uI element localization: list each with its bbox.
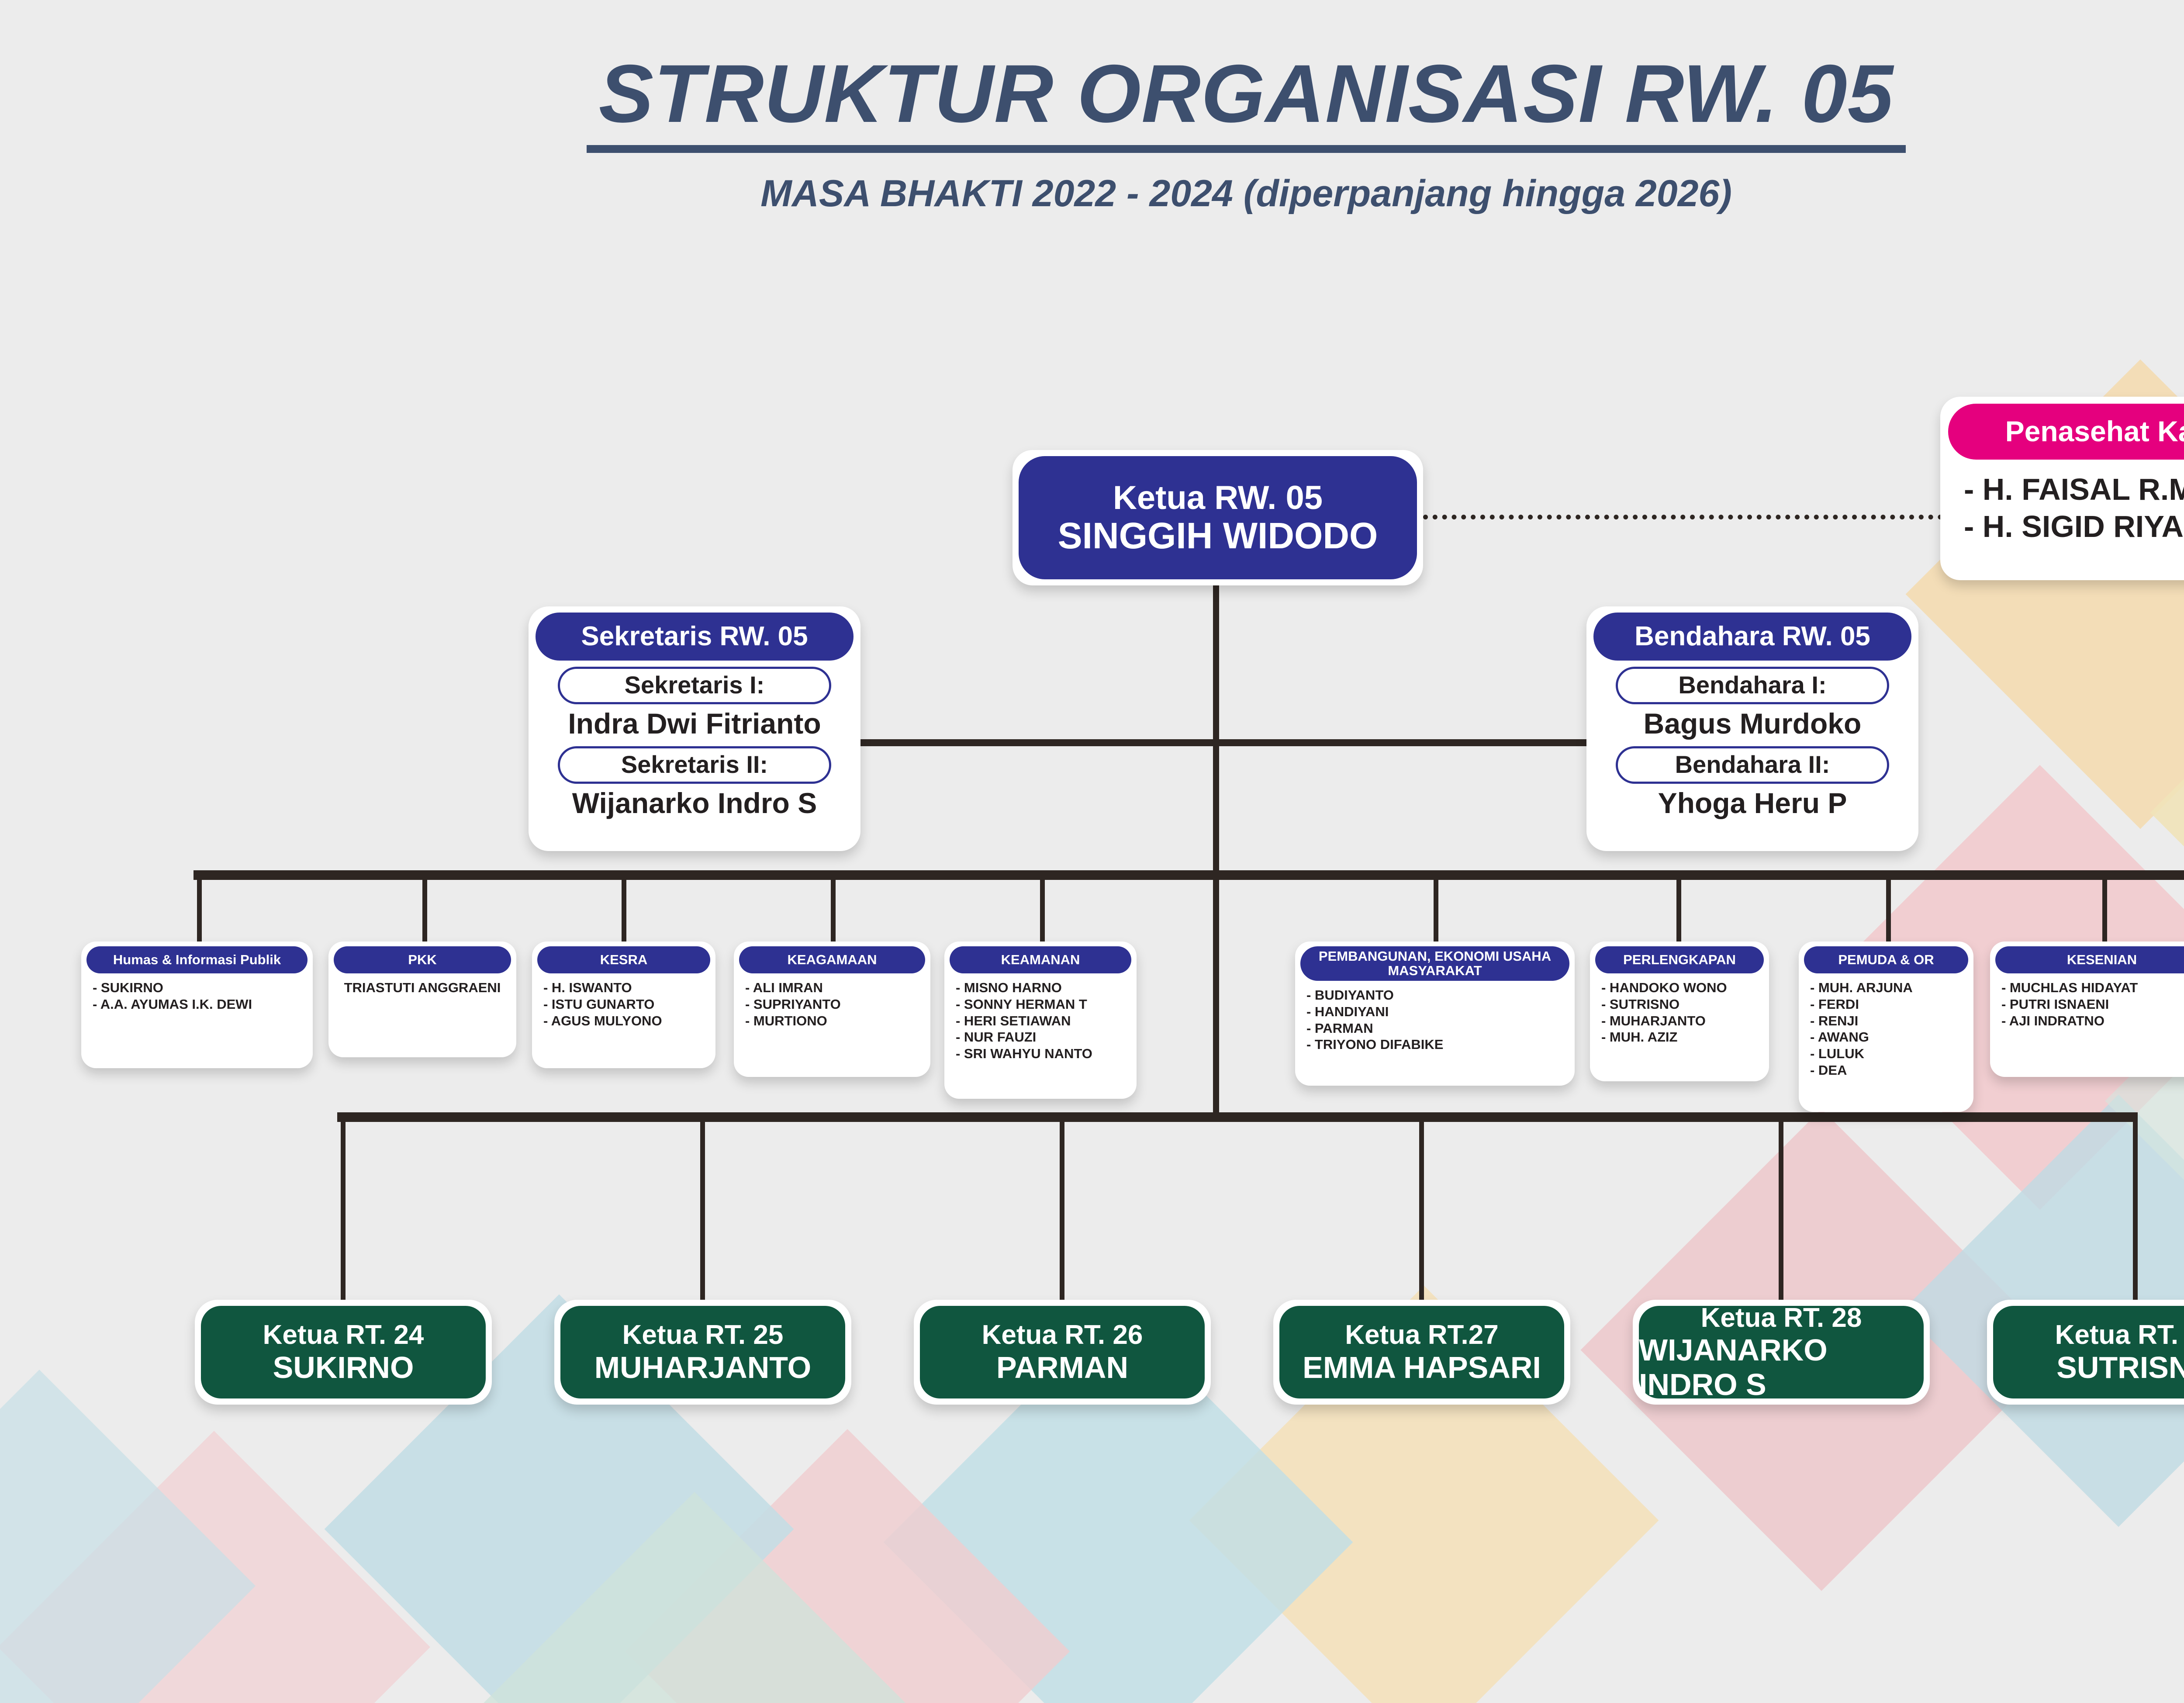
division-member: - DEA: [1810, 1062, 1968, 1079]
sekretaris-2-label: Sekretaris II:: [558, 746, 831, 784]
division-title-pill: PERLENGKAPAN: [1595, 946, 1764, 973]
division-member: - FERDI: [1810, 996, 1968, 1013]
division-member: - AWANG: [1810, 1029, 1968, 1045]
division-member: - ISTU GUNARTO: [543, 996, 710, 1013]
penasehat-member: - H. SIGID RIYANTO: [1964, 508, 2184, 545]
division-member: - HERI SETIAWAN: [956, 1013, 1131, 1029]
bendahara-1-label: Bendahara I:: [1616, 667, 1889, 704]
node-rt-3[interactable]: Ketua RT. 26PARMAN: [914, 1300, 1211, 1405]
bendahara-title-pill: Bendahara RW. 05: [1593, 613, 1911, 661]
division-member: - LULUK: [1810, 1045, 1968, 1062]
node-penasehat-kampung[interactable]: Penasehat Kampung - H. FAISAL R.M- H. SI…: [1940, 397, 2184, 580]
division-member-list: - MUH. ARJUNA- FERDI- RENJI- AWANG- LULU…: [1804, 980, 1968, 1079]
division-member-list: - HANDOKO WONO- SUTRISNO- MUHARJANTO- MU…: [1595, 980, 1764, 1045]
division-title-pill: KEAMANAN: [950, 946, 1131, 973]
division-member: - ALI IMRAN: [745, 980, 925, 996]
division-member: - AJI INDRATNO: [2001, 1013, 2184, 1029]
division-member: - MUCHLAS HIDAYAT: [2001, 980, 2184, 996]
connector-drop-rt-4: [1419, 1118, 1424, 1302]
division-title-pill: Humas & Informasi Publik: [86, 946, 308, 973]
division-member: - NUR FAUZI: [956, 1029, 1131, 1045]
connector-drop-rt-1: [341, 1118, 346, 1302]
rt-name: PARMAN: [996, 1350, 1128, 1385]
node-division-8[interactable]: PEMUDA & OR- MUH. ARJUNA- FERDI- RENJI- …: [1799, 941, 1973, 1112]
connector-drop-rt-2: [700, 1118, 705, 1302]
sekretaris-2-name: Wijanarko Indro S: [536, 786, 854, 820]
division-title-pill: PEMUDA & OR: [1804, 946, 1968, 973]
division-member-list: - H. ISWANTO- ISTU GUNARTO- AGUS MULYONO: [537, 980, 710, 1029]
node-division-3[interactable]: KESRA- H. ISWANTO- ISTU GUNARTO- AGUS MU…: [532, 941, 715, 1068]
division-member: - TRIYONO DIFABIKE: [1306, 1036, 1569, 1053]
rt-inner: Ketua RT.27EMMA HAPSARI: [1279, 1306, 1564, 1398]
division-member: - SONNY HERMAN T: [956, 996, 1131, 1013]
node-division-7[interactable]: PERLENGKAPAN- HANDOKO WONO- SUTRISNO- MU…: [1590, 941, 1769, 1081]
node-division-5[interactable]: KEAMANAN- MISNO HARNO- SONNY HERMAN T- H…: [944, 941, 1137, 1099]
connector-drop-rt-6: [2133, 1118, 2138, 1302]
rt-role: Ketua RT. 29: [2055, 1320, 2184, 1350]
connector-division-bus: [194, 870, 2184, 880]
node-bendahara-rw[interactable]: Bendahara RW. 05 Bendahara I: Bagus Murd…: [1586, 606, 1918, 851]
rt-role: Ketua RT. 24: [263, 1320, 424, 1350]
division-title-pill: PEMBANGUNAN, EKONOMI USAHA MASYARAKAT: [1300, 946, 1569, 981]
node-rt-2[interactable]: Ketua RT. 25MUHARJANTO: [554, 1300, 851, 1405]
node-rt-6[interactable]: Ketua RT. 29SUTRISNO: [1987, 1300, 2184, 1405]
connector-rt-bus: [337, 1112, 2138, 1122]
connector-drop-division-8: [1886, 878, 1891, 944]
node-rt-1[interactable]: Ketua RT. 24SUKIRNO: [195, 1300, 492, 1405]
division-member: - HANDIYANI: [1306, 1004, 1569, 1020]
division-member: - A.A. AYUMAS I.K. DEWI: [93, 996, 308, 1013]
sekretaris-1-name: Indra Dwi Fitrianto: [536, 707, 854, 740]
sekretaris-title-pill: Sekretaris RW. 05: [536, 613, 854, 661]
division-member-list: - MISNO HARNO- SONNY HERMAN T- HERI SETI…: [950, 980, 1131, 1062]
bendahara-2-name: Yhoga Heru P: [1593, 786, 1911, 820]
connector-drop-division-1: [197, 878, 202, 944]
node-ketua-rw[interactable]: Ketua RW. 05 SINGGIH WIDODO: [1013, 450, 1423, 585]
rt-inner: Ketua RT. 25MUHARJANTO: [560, 1306, 845, 1398]
division-member-list: - ALI IMRAN- SUPRIYANTO- MURTIONO: [739, 980, 925, 1029]
connector-trunk-to-divisions: [1213, 743, 1219, 874]
rt-name: SUTRISNO: [2056, 1350, 2184, 1385]
connector-ketua-to-penasehat: [1423, 515, 1943, 519]
connector-drop-division-9: [2102, 878, 2107, 944]
division-title-pill: PKK: [334, 946, 511, 973]
penasehat-member-list: - H. FAISAL R.M- H. SIGID RIYANTO: [1948, 471, 2184, 546]
connector-lines: [0, 0, 2184, 1703]
division-member: - SUTRISNO: [1601, 996, 1764, 1013]
sekretaris-1-label: Sekretaris I:: [558, 667, 831, 704]
division-member-list: - BUDIYANTO- HANDIYANI- PARMAN- TRIYONO …: [1300, 987, 1569, 1053]
division-member: - AGUS MULYONO: [543, 1013, 710, 1029]
rt-name: EMMA HAPSARI: [1303, 1350, 1541, 1385]
rt-role: Ketua RT. 26: [982, 1320, 1143, 1350]
division-member: - RENJI: [1810, 1013, 1968, 1029]
connector-drop-division-4: [831, 878, 836, 944]
rt-role: Ketua RT.27: [1345, 1320, 1498, 1350]
division-member: - MUH. AZIZ: [1601, 1029, 1764, 1045]
connector-sekretaris-bendahara: [857, 739, 1591, 746]
connector-drop-rt-5: [1779, 1118, 1783, 1302]
penasehat-member: - H. FAISAL R.M: [1964, 471, 2184, 508]
rt-inner: Ketua RT. 24SUKIRNO: [201, 1306, 486, 1398]
division-member-list: TRIASTUTI ANGGRAENI: [334, 980, 511, 996]
connector-drop-division-3: [622, 878, 626, 944]
division-member: - MUHARJANTO: [1601, 1013, 1764, 1029]
node-division-6[interactable]: PEMBANGUNAN, EKONOMI USAHA MASYARAKAT- B…: [1295, 941, 1575, 1086]
division-member-list: - SUKIRNO- A.A. AYUMAS I.K. DEWI: [86, 980, 308, 1013]
rt-role: Ketua RT. 25: [622, 1320, 784, 1350]
connector-drop-rt-3: [1060, 1118, 1064, 1302]
bendahara-2-label: Bendahara II:: [1616, 746, 1889, 784]
connector-trunk-to-rt: [1213, 880, 1219, 1116]
division-member: TRIASTUTI ANGGRAENI: [334, 980, 511, 996]
division-member: - HANDOKO WONO: [1601, 980, 1764, 996]
node-division-2[interactable]: PKKTRIASTUTI ANGGRAENI: [328, 941, 516, 1057]
connector-drop-division-6: [1434, 878, 1438, 944]
penasehat-title-pill: Penasehat Kampung: [1948, 404, 2184, 460]
division-member: - PUTRI ISNAENI: [2001, 996, 2184, 1013]
rt-inner: Ketua RT. 28WIJANARKO INDRO S: [1639, 1306, 1924, 1398]
division-member: - SUKIRNO: [93, 980, 308, 996]
rt-name: MUHARJANTO: [594, 1350, 812, 1385]
division-member: - PARMAN: [1306, 1020, 1569, 1037]
rt-name: WIJANARKO INDRO S: [1639, 1333, 1924, 1402]
node-division-4[interactable]: KEAGAMAAN- ALI IMRAN- SUPRIYANTO- MURTIO…: [734, 941, 930, 1077]
division-member-list: - MUCHLAS HIDAYAT- PUTRI ISNAENI- AJI IN…: [1995, 980, 2184, 1029]
rt-role: Ketua RT. 28: [1701, 1303, 1862, 1333]
node-division-9[interactable]: KESENIAN- MUCHLAS HIDAYAT- PUTRI ISNAENI…: [1990, 941, 2184, 1077]
rt-inner: Ketua RT. 26PARMAN: [920, 1306, 1205, 1398]
node-sekretaris-rw[interactable]: Sekretaris RW. 05 Sekretaris I: Indra Dw…: [529, 606, 860, 851]
division-member: - MUH. ARJUNA: [1810, 980, 1968, 996]
bendahara-1-name: Bagus Murdoko: [1593, 707, 1911, 740]
node-rt-5[interactable]: Ketua RT. 28WIJANARKO INDRO S: [1633, 1300, 1930, 1405]
ketua-rw-name: SINGGIH WIDODO: [1058, 516, 1378, 556]
division-member: - BUDIYANTO: [1306, 987, 1569, 1004]
division-member: - SRI WAHYU NANTO: [956, 1045, 1131, 1062]
division-member: - SUPRIYANTO: [745, 996, 925, 1013]
connector-drop-division-2: [422, 878, 427, 944]
division-title-pill: KESENIAN: [1995, 946, 2184, 973]
connector-drop-division-5: [1040, 878, 1045, 944]
connector-drop-division-7: [1676, 878, 1681, 944]
ketua-rw-pill: Ketua RW. 05 SINGGIH WIDODO: [1019, 456, 1417, 579]
division-member: - MURTIONO: [745, 1013, 925, 1029]
division-member: - MISNO HARNO: [956, 980, 1131, 996]
division-member: - H. ISWANTO: [543, 980, 710, 996]
rt-inner: Ketua RT. 29SUTRISNO: [1993, 1306, 2184, 1398]
ketua-rw-role: Ketua RW. 05: [1113, 480, 1323, 516]
division-title-pill: KEAGAMAAN: [739, 946, 925, 973]
node-division-1[interactable]: Humas & Informasi Publik- SUKIRNO- A.A. …: [81, 941, 313, 1068]
node-rt-4[interactable]: Ketua RT.27EMMA HAPSARI: [1273, 1300, 1570, 1405]
rt-name: SUKIRNO: [273, 1350, 414, 1385]
division-title-pill: KESRA: [537, 946, 710, 973]
